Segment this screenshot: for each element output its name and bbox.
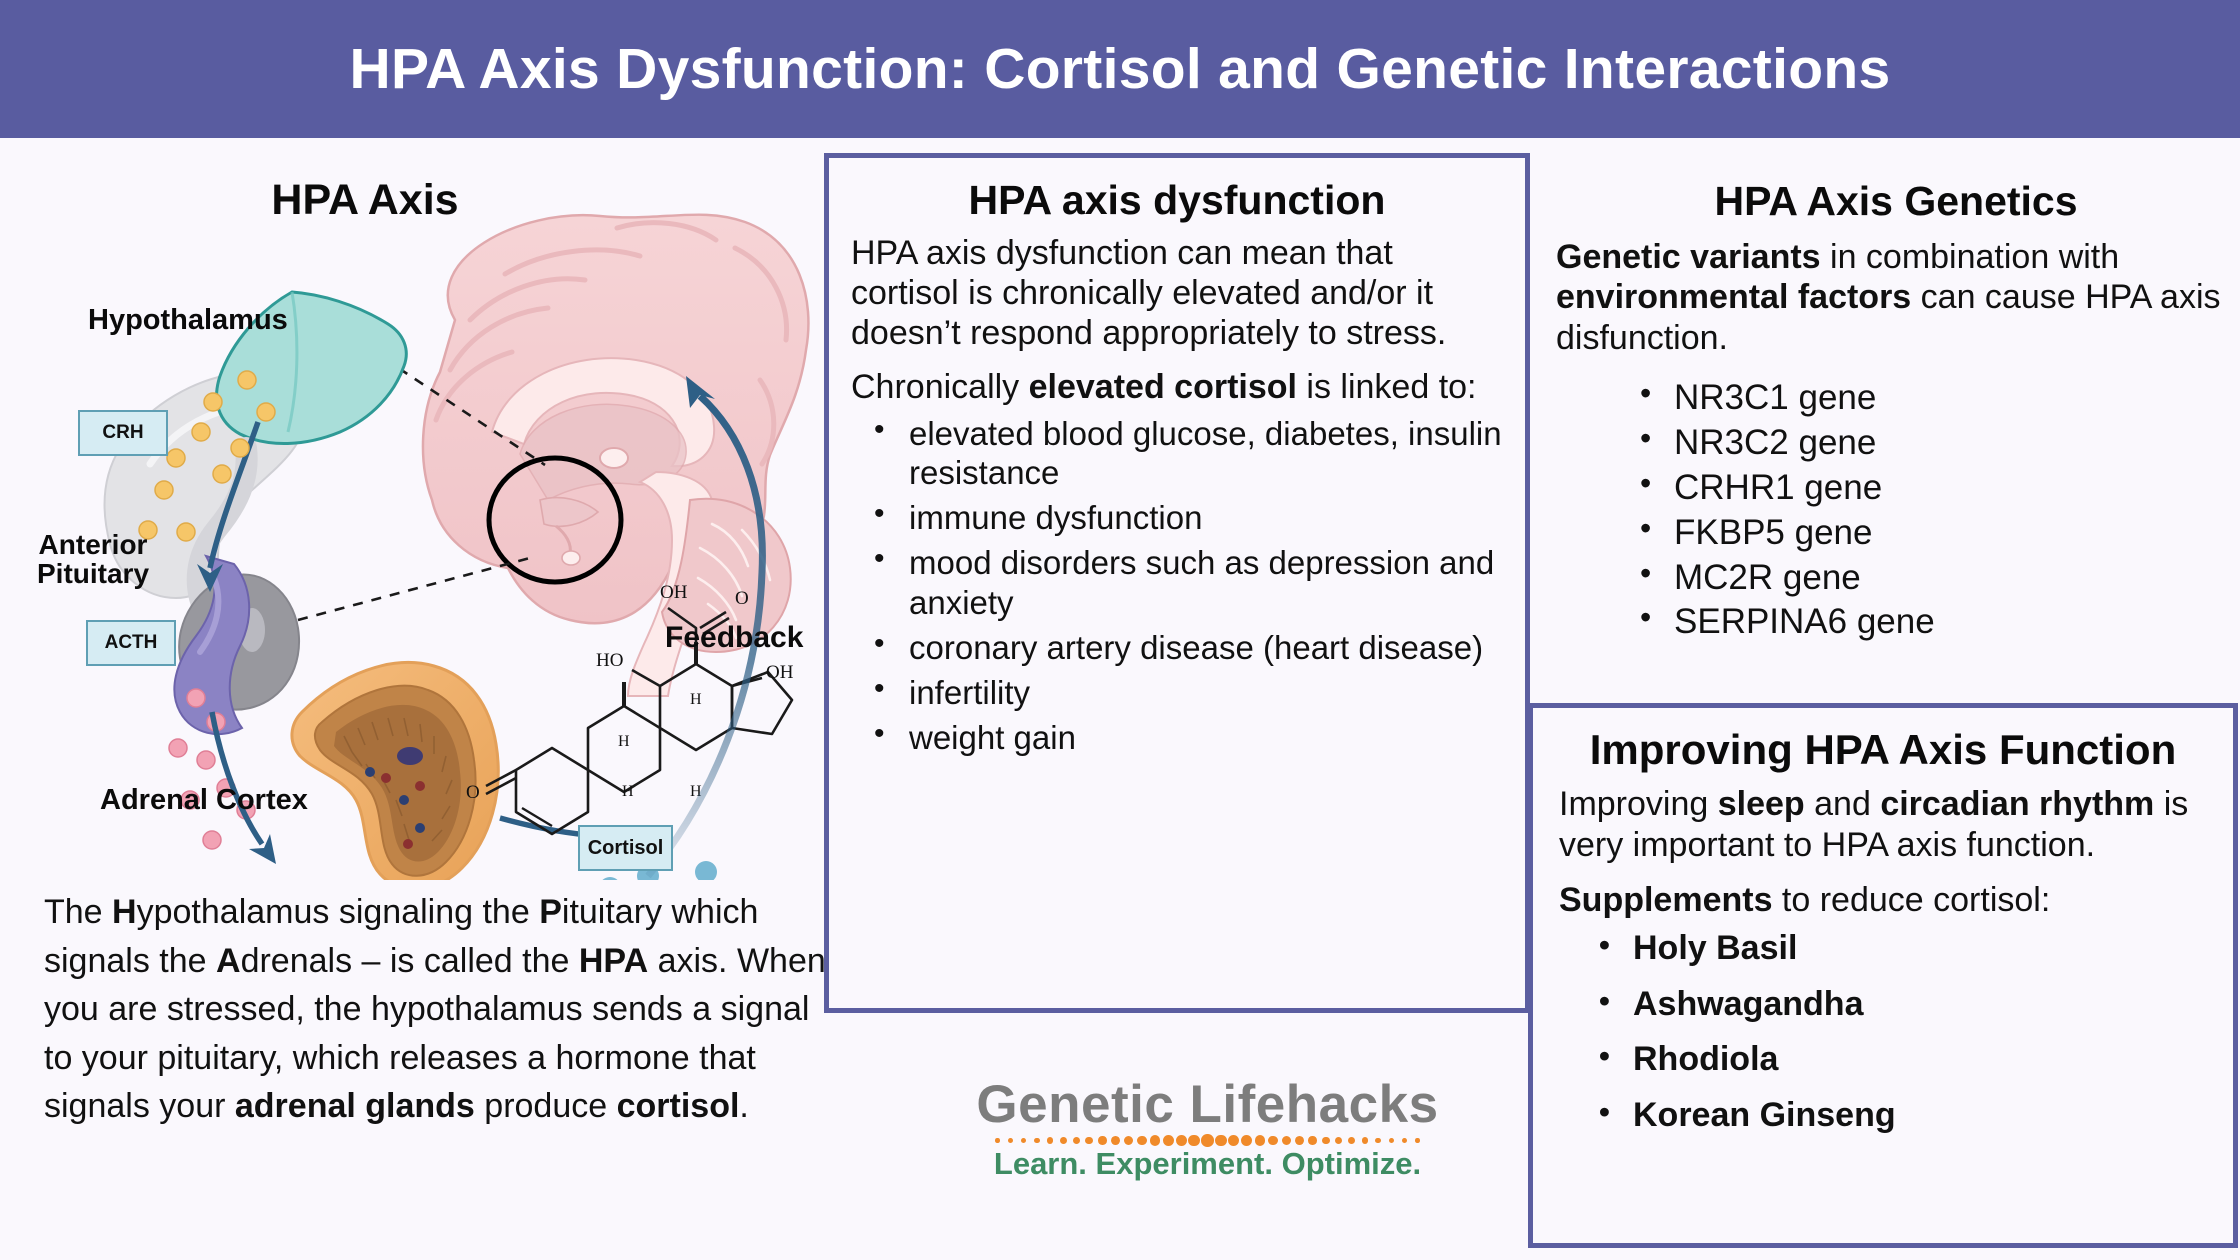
genetics-paragraph: Genetic variants in combination with env… (1556, 237, 2236, 358)
list-item: coronary artery disease (heart disease) (907, 628, 1503, 667)
dysfunction-bullet-list: elevated blood glucose, diabetes, insuli… (851, 414, 1503, 758)
logo-dot (1098, 1136, 1106, 1144)
list-item: MC2R gene (1674, 556, 2236, 601)
logo-dot (1308, 1136, 1316, 1144)
logo-dot (1282, 1136, 1291, 1145)
genetics-heading: HPA Axis Genetics (1556, 178, 2236, 225)
list-item: weight gain (907, 718, 1503, 757)
genetics-gene-list: NR3C1 geneNR3C2 geneCRHR1 geneFKBP5 gene… (1556, 376, 2236, 645)
infographic-page: HPA Axis Dysfunction: Cortisol and Genet… (0, 0, 2240, 1260)
list-item: Holy Basil (1633, 929, 2207, 968)
logo-dot (1124, 1136, 1133, 1145)
logo-dot (1335, 1137, 1342, 1144)
logo-dot (1295, 1136, 1304, 1145)
logo-dot (1137, 1136, 1147, 1146)
list-item: NR3C1 gene (1674, 376, 2236, 421)
label-anterior-pituitary: Anterior Pituitary (28, 530, 158, 589)
logo-dot (1255, 1135, 1265, 1145)
logo-dot (1362, 1137, 1368, 1143)
tag-cortisol: Cortisol (578, 825, 673, 871)
page-header: HPA Axis Dysfunction: Cortisol and Genet… (0, 0, 2240, 138)
list-item: Korean Ginseng (1633, 1096, 2207, 1135)
list-item: SERPINA6 gene (1674, 600, 2236, 645)
logo-dot (1268, 1136, 1278, 1146)
label-hypothalamus: Hypothalamus (88, 305, 288, 335)
mol-label-o-bottom: O (466, 782, 480, 803)
dysfunction-panel-lead-in: Chronically elevated cortisol is linked … (851, 367, 1503, 407)
logo-dot (1389, 1138, 1394, 1143)
label-feedback: Feedback (665, 622, 803, 654)
list-item: infertility (907, 673, 1503, 712)
mol-label-h1: H (618, 733, 630, 750)
supplements-list: Holy BasilAshwagandhaRhodiolaKorean Gins… (1559, 929, 2207, 1135)
list-item: CRHR1 gene (1674, 466, 2236, 511)
logo-dot (1021, 1138, 1026, 1143)
logo-dot (1322, 1137, 1330, 1145)
mol-label-ho-left: HO (596, 650, 623, 671)
list-item: elevated blood glucose, diabetes, insuli… (907, 414, 1503, 493)
mol-label-oh-top: OH (660, 582, 688, 603)
improving-heading: Improving HPA Axis Function (1559, 726, 2207, 774)
logo-dot (1241, 1135, 1252, 1146)
mol-label-oh-right: OH (766, 662, 794, 683)
page-title: HPA Axis Dysfunction: Cortisol and Genet… (350, 36, 1891, 102)
mol-label-h3: H (622, 783, 634, 800)
label-anterior-pituitary-line1: Anterior (28, 530, 158, 559)
mol-label-h2: H (690, 691, 702, 708)
logo-dot (1215, 1135, 1227, 1147)
logo-dot (1402, 1138, 1407, 1143)
tag-crh: CRH (78, 410, 168, 456)
logo-tagline: Learn. Experiment. Optimize. (955, 1148, 1460, 1179)
hpa-dysfunction-panel: HPA axis dysfunction HPA axis dysfunctio… (824, 153, 1530, 1013)
logo-dot (1008, 1138, 1013, 1143)
logo-dot (1060, 1137, 1067, 1144)
hpa-genetics-section: HPA Axis Genetics Genetic variants in co… (1556, 178, 2236, 645)
logo-dot (1188, 1135, 1200, 1147)
dysfunction-panel-heading: HPA axis dysfunction (851, 178, 1503, 223)
logo-dot (1150, 1135, 1160, 1145)
list-item: mood disorders such as depression and an… (907, 543, 1503, 622)
logo-dot (1415, 1138, 1419, 1142)
genetic-lifehacks-logo: Genetic Lifehacks Learn. Experiment. Opt… (955, 1078, 1460, 1179)
list-item: Ashwagandha (1633, 985, 2207, 1024)
list-item: FKBP5 gene (1674, 511, 2236, 556)
logo-dot (1085, 1137, 1093, 1145)
logo-dot (1047, 1137, 1053, 1143)
improving-hpa-panel: Improving HPA Axis Function Improving sl… (1528, 703, 2238, 1248)
logo-dot (1111, 1136, 1120, 1145)
supplements-lead-in: Supplements to reduce cortisol: (1559, 880, 2207, 921)
label-anterior-pituitary-line2: Pituitary (28, 559, 158, 588)
list-item: Rhodiola (1633, 1040, 2207, 1079)
logo-dot (1163, 1135, 1174, 1146)
list-item: immune dysfunction (907, 498, 1503, 537)
logo-dot (1348, 1137, 1355, 1144)
logo-brand-name: Genetic Lifehacks (955, 1078, 1460, 1131)
logo-dot-row (998, 1135, 1418, 1146)
dysfunction-panel-paragraph: HPA axis dysfunction can mean that corti… (851, 233, 1503, 353)
logo-dot (1201, 1134, 1213, 1146)
improving-paragraph: Improving sleep and circadian rhythm is … (1559, 784, 2207, 866)
mol-label-o-right: O (735, 588, 749, 609)
list-item: NR3C2 gene (1674, 421, 2236, 466)
logo-dot (1073, 1137, 1080, 1144)
adrenal-cortex-illustration (292, 663, 622, 880)
logo-dot (1176, 1135, 1187, 1146)
logo-dot (1375, 1138, 1381, 1144)
label-adrenal-cortex: Adrenal Cortex (100, 785, 308, 815)
logo-dot (1034, 1138, 1040, 1144)
diagram-caption: The Hypothalamus signaling the Pituitary… (44, 888, 834, 1131)
logo-dot (995, 1138, 999, 1142)
logo-dot (1228, 1135, 1239, 1146)
tag-acth: ACTH (86, 620, 176, 666)
